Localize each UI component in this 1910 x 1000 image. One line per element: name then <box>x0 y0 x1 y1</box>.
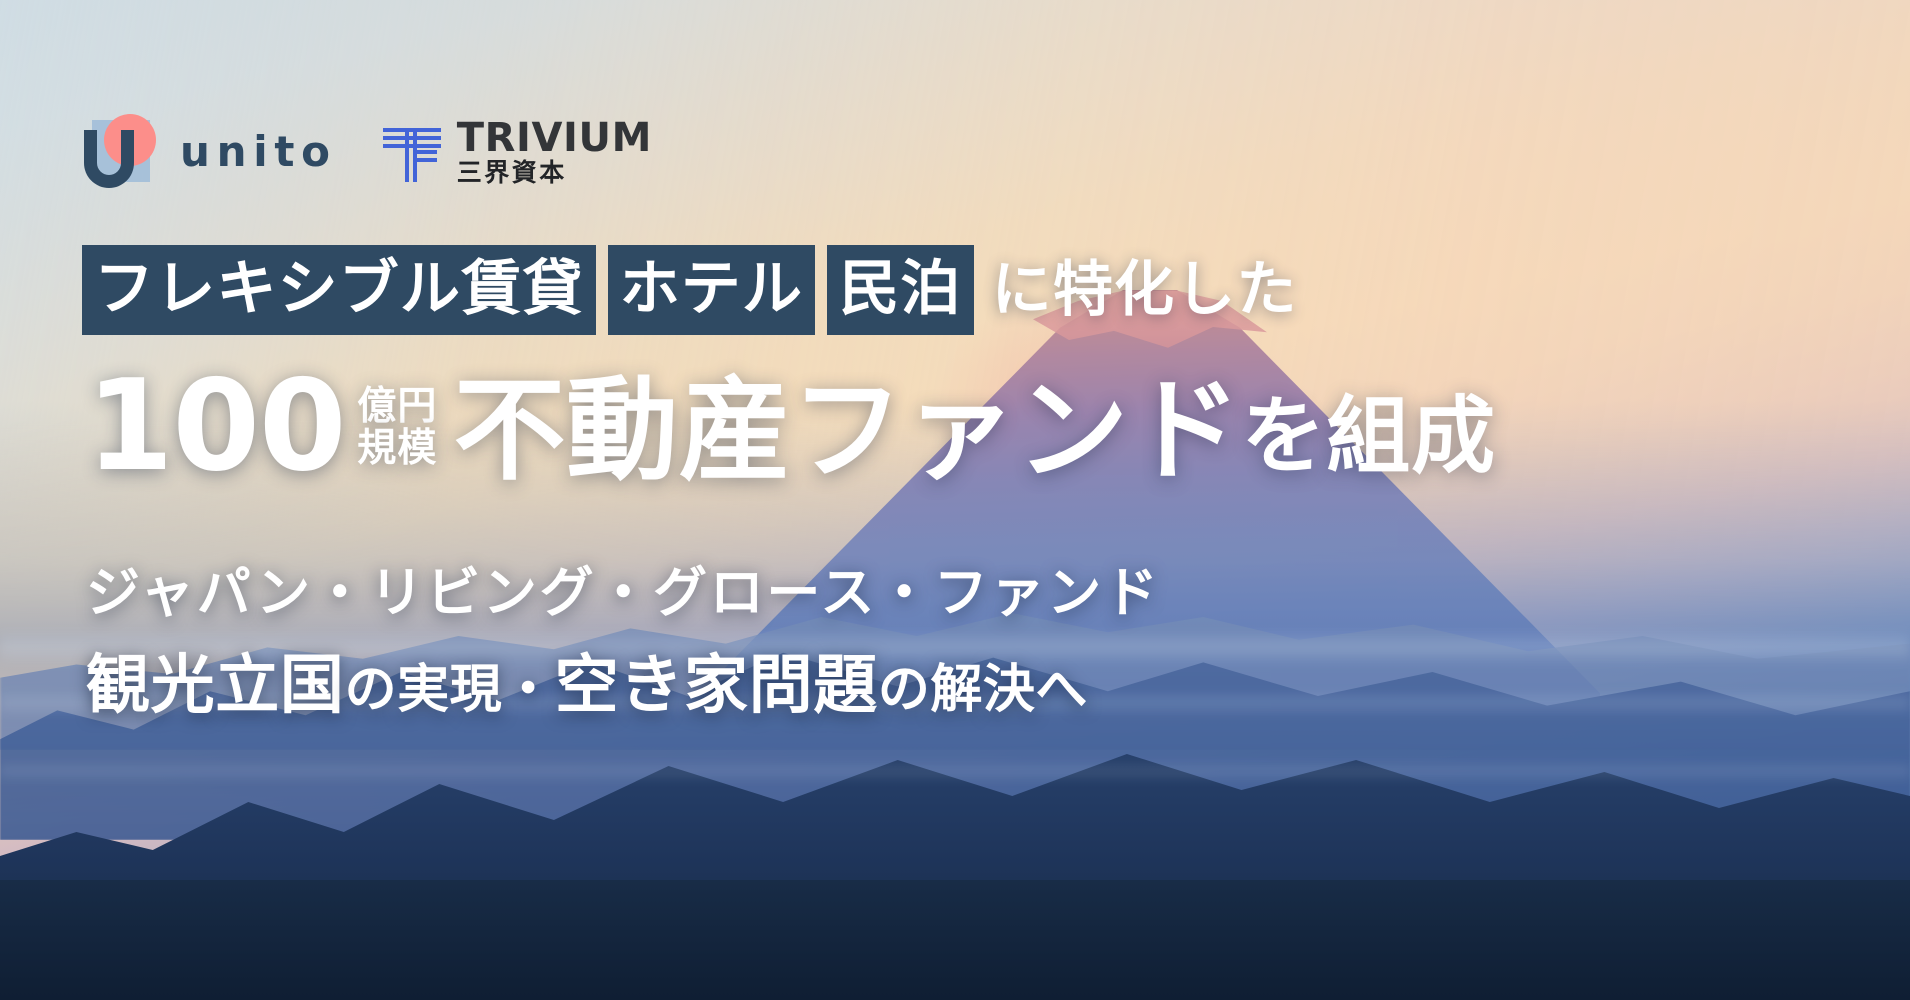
trivium-bar-low <box>383 144 441 148</box>
category-tag-flexible-rental: フレキシブル賃貸 <box>82 245 596 335</box>
trivium-t-mark-icon <box>383 120 441 182</box>
unito-u-shape <box>84 130 134 188</box>
trivium-arm-lower <box>413 158 437 162</box>
trivium-wordmark: TRIVIUM <box>457 118 652 158</box>
category-tag-hotel: ホテル <box>608 245 816 335</box>
fund-amount-number: 100 <box>86 368 345 484</box>
logo-row: unito TRIVIUM 三界資本 <box>82 112 652 190</box>
mission-connector-2: の解決へ <box>878 647 1088 722</box>
unito-wordmark: unito <box>180 127 337 176</box>
headline-action: を組成 <box>1242 394 1497 478</box>
trivium-stem-right <box>413 128 417 182</box>
unito-logo[interactable]: unito <box>82 112 337 190</box>
mission-statement: 観光立国 の実現・ 空き家問題 の解決へ <box>86 634 1088 726</box>
unito-u-mark-icon <box>82 112 160 190</box>
trivium-japanese-name: 三界資本 <box>457 160 567 185</box>
trivium-text-block: TRIVIUM 三界資本 <box>457 118 652 185</box>
hero-banner: unito TRIVIUM 三界資本 フレキ <box>0 0 1910 1000</box>
headline-subject: 不動産ファンド <box>454 378 1242 484</box>
unit-kibo: 規模 <box>357 428 437 470</box>
unit-oku-en: 億円 <box>357 386 437 428</box>
main-headline: 100 億円 規模 不動産ファンド を組成 <box>86 368 1496 484</box>
category-tag-minpaku: 民泊 <box>827 245 973 335</box>
mission-keyword-tourism: 観光立国 <box>86 634 345 726</box>
headline-tail-text: に特化した <box>992 260 1298 320</box>
trivium-stem-left <box>405 128 409 182</box>
trivium-arm-upper <box>413 150 437 154</box>
fund-amount-unit: 億円 規模 <box>357 386 437 470</box>
fund-name: ジャパン・リビング・グロース・ファンド <box>86 548 1161 627</box>
trivium-logo[interactable]: TRIVIUM 三界資本 <box>383 118 652 185</box>
trivium-bar-top <box>383 128 441 132</box>
headline-tag-row: フレキシブル賃貸 ホテル 民泊 に特化した <box>82 245 1298 335</box>
mission-keyword-vacant-homes: 空き家問題 <box>555 634 878 726</box>
trivium-bar-mid <box>383 136 441 140</box>
mission-connector-1: の実現・ <box>345 647 555 722</box>
